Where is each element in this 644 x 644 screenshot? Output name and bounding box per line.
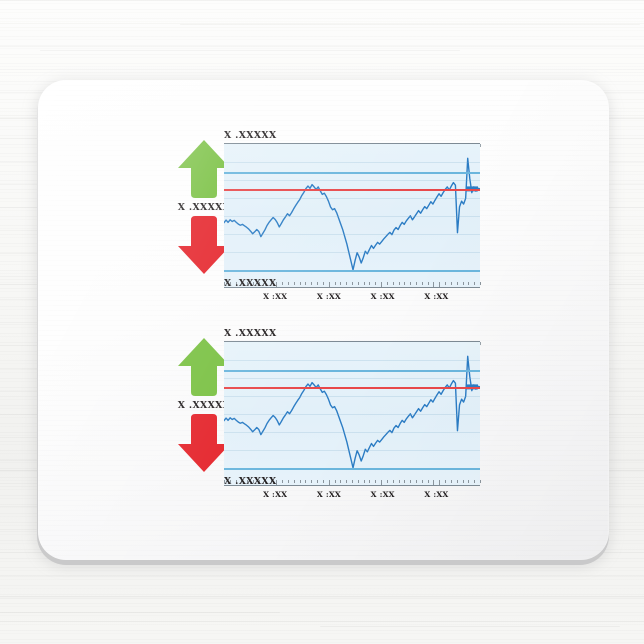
lower-band-line-bottom bbox=[224, 468, 480, 470]
price-chart-bottom: X .XXXXX bbox=[224, 328, 482, 518]
chart-xtick-labels-top: X :XXX :XXX :XXX :XX bbox=[224, 292, 480, 306]
xtick-label: X :XX bbox=[263, 490, 287, 499]
chart-bottom-value-label-bottom: X .XXXXX bbox=[224, 476, 277, 487]
lower-band-line-top bbox=[224, 270, 480, 272]
upper-band-line-top bbox=[224, 172, 480, 174]
mid-reference-line-bottom bbox=[224, 387, 480, 389]
chart-plot-area-top bbox=[224, 144, 480, 287]
price-chart-top: X .XXXXX bbox=[224, 130, 482, 320]
indicator-value-top: X .XXXXX bbox=[178, 202, 231, 213]
chart-top-value-label-bottom: X .XXXXX bbox=[224, 328, 277, 339]
mouse-pad: X .XXXXX X .XXXXX bbox=[38, 80, 609, 560]
xtick-label: X :XX bbox=[371, 292, 395, 301]
chart-xtick-labels-bottom: X :XXX :XXX :XXX :XX bbox=[224, 490, 480, 504]
chart-top-value-label-top: X .XXXXX bbox=[224, 130, 277, 141]
indicator-panel-bottom: X .XXXXX X .XXXXX bbox=[38, 328, 609, 518]
xtick-label: X :XX bbox=[371, 490, 395, 499]
mid-reference-line-top bbox=[224, 189, 480, 191]
printed-artwork: X .XXXXX X .XXXXX bbox=[38, 80, 609, 560]
upper-band-line-bottom bbox=[224, 370, 480, 372]
chart-plot-area-bottom bbox=[224, 342, 480, 485]
xtick-label: X :XX bbox=[263, 292, 287, 301]
indicator-panel-top: X .XXXXX X .XXXXX bbox=[38, 130, 609, 320]
xtick-label: X :XX bbox=[317, 490, 341, 499]
indicator-value-bottom: X .XXXXX bbox=[178, 400, 231, 411]
xtick-label: X :XX bbox=[424, 292, 448, 301]
screenshot-scene: X .XXXXX X .XXXXX bbox=[0, 0, 644, 644]
xtick-label: X :XX bbox=[317, 292, 341, 301]
xtick-label: X :XX bbox=[424, 490, 448, 499]
chart-bottom-value-label-top: X .XXXXX bbox=[224, 278, 277, 289]
